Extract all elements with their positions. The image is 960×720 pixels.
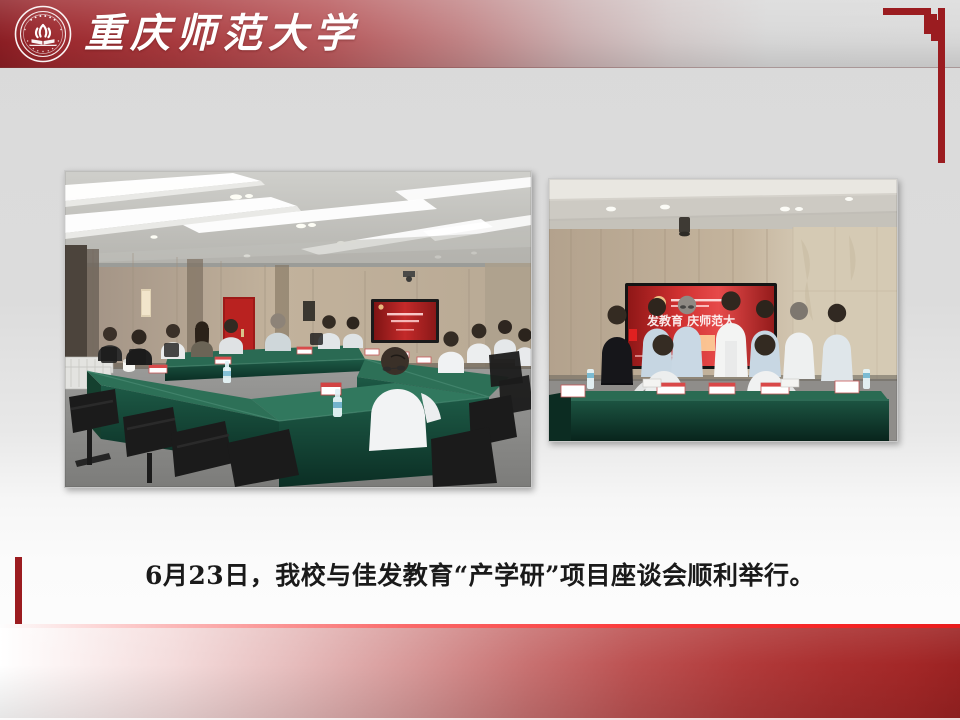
- chinese-meander-corner-icon-top-right: [883, 8, 945, 163]
- footer-band: [0, 628, 960, 720]
- university-seal-icon: [14, 5, 72, 63]
- university-name-title: 重庆师范大学: [84, 6, 360, 62]
- header-divider: [0, 67, 960, 68]
- meeting-room-photo: [64, 170, 532, 488]
- signing-ceremony-photo: 发教育 庆师范大: [548, 178, 898, 442]
- slide-caption: 6月23日，我校与佳发教育“产学研”项目座谈会顺利举行。: [0, 556, 960, 592]
- presentation-slide: 重庆师范大学: [0, 0, 960, 720]
